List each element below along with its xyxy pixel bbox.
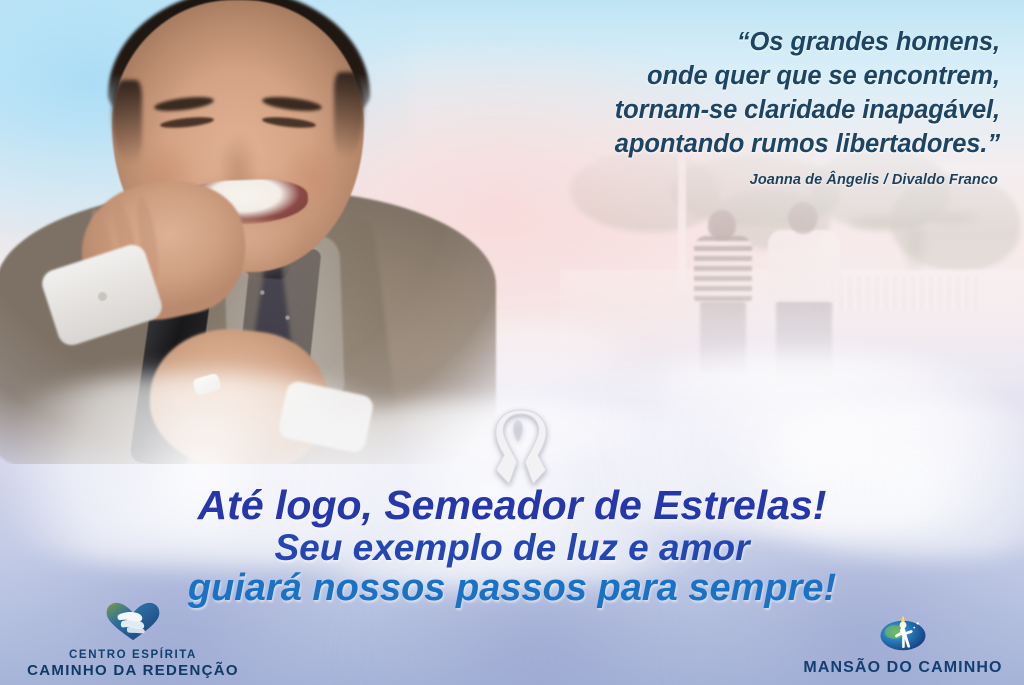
portrait-photo: [0, 0, 510, 464]
quote-line-3: tornam-se claridade inapagável,: [440, 94, 1000, 128]
quote-line-2: onde quer que se encontrem,: [440, 60, 1000, 94]
quote-line-4: apontando rumos libertadores.”: [440, 128, 1000, 162]
child-legs: [700, 300, 746, 372]
heart-hands-icon: [8, 602, 258, 647]
child-head: [708, 210, 736, 240]
logo-left-line-2: CAMINHO DA REDENÇÃO: [8, 662, 258, 679]
cuff-button: [98, 292, 107, 301]
child-striped-shirt: [694, 236, 752, 302]
globe-figure-icon: [788, 612, 1018, 657]
headline-line-2: Seu exemplo de luz e amor: [0, 529, 1024, 567]
adult-head: [788, 202, 818, 234]
logo-right-line-2: MANSÃO DO CAMINHO: [788, 659, 1018, 677]
poster-canvas: “Os grandes homens, onde quer que se enc…: [0, 0, 1024, 685]
quote-text: “Os grandes homens, onde quer que se enc…: [440, 26, 1000, 162]
adult-legs: [776, 300, 832, 378]
quote-line-1: “Os grandes homens,: [440, 26, 1000, 60]
quote-attribution: Joanna de Ângelis / Divaldo Franco: [438, 172, 998, 188]
logo-centro-espirita-caminho-da-redencao[interactable]: CENTRO ESPÍRITA CAMINHO DA REDENÇÃO: [8, 602, 258, 679]
background-scene-garden: [560, 150, 1024, 450]
logo-left-line-1: CENTRO ESPÍRITA: [8, 649, 258, 662]
logo-mansao-do-caminho[interactable]: MANSÃO DO CAMINHO: [788, 612, 1018, 677]
headline-message: Até logo, Semeador de Estrelas! Seu exem…: [0, 484, 1024, 609]
mourning-ribbon-icon: [484, 408, 558, 486]
headline-line-1: Até logo, Semeador de Estrelas!: [0, 484, 1024, 527]
adult-white-shirt: [768, 230, 840, 302]
